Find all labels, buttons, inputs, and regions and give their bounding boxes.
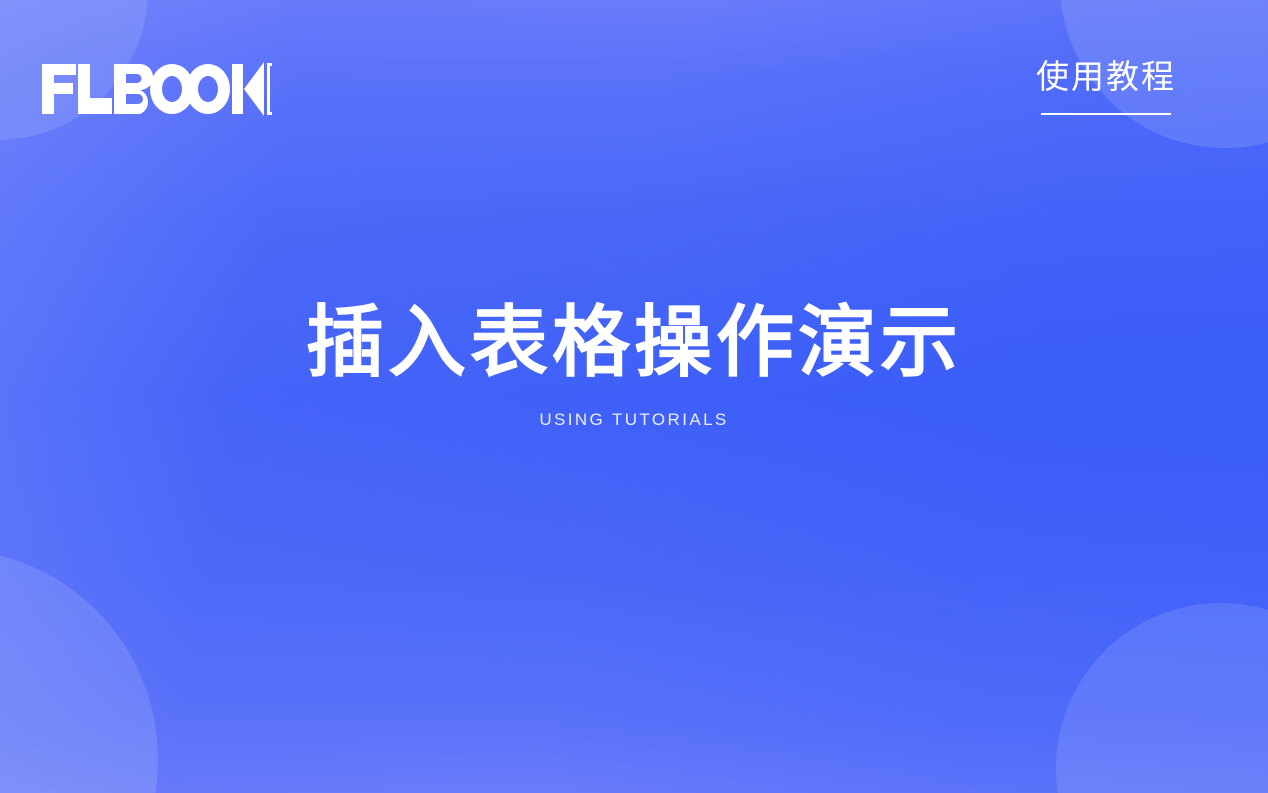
page-subtitle: USING TUTORIALS: [0, 410, 1268, 430]
corner-label-text: 使用教程: [1036, 56, 1176, 97]
corner-label: 使用教程: [1036, 56, 1176, 115]
title-block: 插入表格操作演示 USING TUTORIALS: [0, 300, 1268, 431]
page-title: 插入表格操作演示: [0, 300, 1268, 384]
corner-label-rule: [1041, 113, 1171, 115]
flbook-logo: [42, 58, 272, 120]
title-slide: 使用教程 插入表格操作演示 USING TUTORIALS: [0, 0, 1268, 793]
